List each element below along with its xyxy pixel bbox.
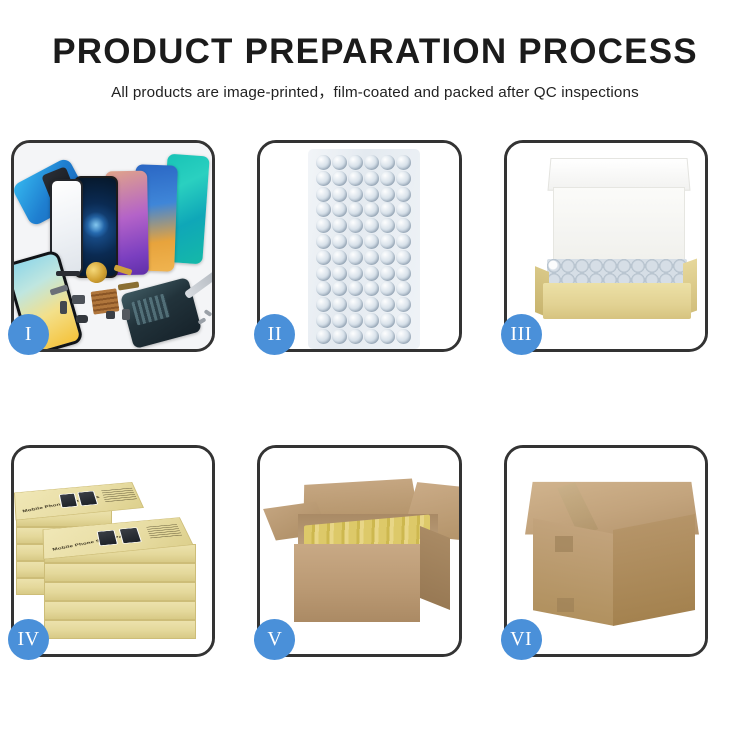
carton-sealed-image	[507, 448, 705, 654]
page-subtitle: All products are image-printed，film-coat…	[0, 80, 750, 102]
flex-cable-part-icon	[56, 271, 80, 276]
process-step-panel-3[interactable]: III	[504, 140, 708, 352]
bubble-icon	[396, 250, 411, 265]
bubble-icon	[332, 266, 347, 281]
stacked-box-edge	[44, 601, 196, 620]
bubble-icon	[348, 297, 363, 312]
bubble-icon	[316, 218, 331, 233]
bubble-icon	[348, 281, 363, 296]
products-and-spare-parts-image	[14, 143, 212, 349]
bubble-icon	[348, 218, 363, 233]
bubble-icon	[380, 266, 395, 281]
bubble-icon	[332, 250, 347, 265]
bubble-icon	[396, 187, 411, 202]
stacked-box-edge	[44, 563, 196, 582]
box-screen-image	[77, 491, 98, 506]
stacked-box-edge	[44, 620, 196, 639]
bubble-icon	[316, 329, 331, 344]
bubble-icon	[364, 234, 379, 249]
small-part-icon	[76, 315, 88, 323]
bubble-icon	[348, 313, 363, 328]
box-screen-image	[97, 530, 118, 546]
mailer-box-front-panel	[543, 283, 691, 319]
bubble-icon	[316, 234, 331, 249]
bubble-icon	[364, 250, 379, 265]
bubble-icon	[332, 218, 347, 233]
process-step-panel-6[interactable]: VI	[504, 445, 708, 657]
bubble-icon	[348, 187, 363, 202]
bubble-icon	[348, 155, 363, 170]
bubble-icon	[348, 329, 363, 344]
process-row-2: Mobile Phone Spare Parts Mobile Phone Sp…	[0, 445, 750, 657]
bubble-icon	[332, 234, 347, 249]
process-step-panel-4[interactable]: Mobile Phone Spare Parts Mobile Phone Sp…	[11, 445, 215, 657]
copper-grid-part-icon	[91, 288, 120, 314]
bubble-icon	[348, 171, 363, 186]
bubble-wrap-packing-image	[260, 143, 458, 349]
bubble-icon	[380, 281, 395, 296]
bubble-icon	[364, 187, 379, 202]
bubble-icon	[396, 313, 411, 328]
inner-box-packing-image	[507, 143, 705, 349]
page-header: PRODUCT PREPARATION PROCESS All products…	[0, 0, 750, 102]
step-badge-6: VI	[501, 619, 542, 660]
boxes-stacked-image: Mobile Phone Spare Parts Mobile Phone Sp…	[14, 448, 212, 654]
box-stack: Mobile Phone Spare Parts Mobile Phone Sp…	[14, 448, 212, 654]
bubble-icon	[348, 234, 363, 249]
bubble-icon	[380, 171, 395, 186]
small-part-icon	[72, 295, 85, 304]
bubble-icon	[364, 281, 379, 296]
carton-front-panel	[294, 544, 420, 622]
bubble-icon	[396, 297, 411, 312]
bubble-icon	[348, 266, 363, 281]
step-badge-4: IV	[8, 619, 49, 660]
screw-icon	[204, 309, 213, 317]
bubble-icon	[348, 250, 363, 265]
bubble-icon	[380, 218, 395, 233]
bubble-icon	[316, 187, 331, 202]
bubble-icon	[364, 155, 379, 170]
bubble-icon	[380, 329, 395, 344]
stacked-box-edge	[44, 582, 196, 601]
bubble-icon	[332, 171, 347, 186]
bubble-icon	[332, 187, 347, 202]
bubble-icon	[380, 155, 395, 170]
sealed-carton-tab	[557, 598, 574, 612]
page-title: PRODUCT PREPARATION PROCESS	[0, 34, 750, 71]
bubble-icon	[380, 313, 395, 328]
bubble-icon	[364, 297, 379, 312]
bubble-icon	[364, 202, 379, 217]
bubble-icon	[316, 313, 331, 328]
bubble-icon	[332, 297, 347, 312]
step-badge-1: I	[8, 314, 49, 355]
bubble-icon	[332, 155, 347, 170]
bubble-icon	[316, 202, 331, 217]
bubble-icon	[396, 329, 411, 344]
bubble-icon	[380, 250, 395, 265]
process-step-panel-5[interactable]: V	[257, 445, 461, 657]
bubble-icon	[364, 329, 379, 344]
bubble-icon	[348, 202, 363, 217]
bubble-icon	[380, 187, 395, 202]
bubble-icon	[380, 234, 395, 249]
small-part-icon	[60, 301, 67, 314]
small-part-icon	[106, 311, 115, 319]
box-spec-lines	[101, 487, 137, 502]
bubble-icon	[332, 329, 347, 344]
process-step-panel-2[interactable]: II	[257, 140, 461, 352]
step-badge-3: III	[501, 314, 542, 355]
bubble-icon	[364, 218, 379, 233]
bubble-icon	[364, 313, 379, 328]
box-label-text: Mobile Phone Spare Parts	[52, 533, 131, 552]
bubble-icon	[332, 281, 347, 296]
bubble-icon	[364, 266, 379, 281]
mailer-box-lid	[547, 158, 690, 191]
bubble-wrap-bubbles	[316, 155, 412, 345]
bubble-icon	[396, 281, 411, 296]
carton-side-panel	[420, 526, 450, 610]
bubble-icon	[316, 250, 331, 265]
small-part-icon	[122, 309, 130, 320]
bubble-icon	[396, 218, 411, 233]
box-spec-lines	[146, 524, 182, 539]
bubble-icon	[396, 234, 411, 249]
bubble-icon	[396, 171, 411, 186]
bubble-icon	[364, 171, 379, 186]
process-row-1: I II III	[0, 140, 750, 352]
bubble-icon	[332, 313, 347, 328]
carton-filling-image	[260, 448, 458, 654]
bubble-icon	[332, 202, 347, 217]
bubble-icon	[316, 171, 331, 186]
bubble-icon	[316, 266, 331, 281]
sealed-carton-tab	[555, 536, 573, 552]
bubble-icon	[380, 202, 395, 217]
small-part-icon	[118, 281, 140, 290]
process-grid: I II III	[0, 140, 750, 750]
bubble-icon	[316, 281, 331, 296]
mailer-box-back-panel	[553, 187, 685, 265]
bubble-icon	[380, 297, 395, 312]
box-screen-image	[119, 527, 142, 544]
box-screen-image	[59, 493, 78, 508]
bubble-icon	[396, 202, 411, 217]
bubble-icon	[396, 155, 411, 170]
process-step-panel-1[interactable]: I	[11, 140, 215, 352]
sealed-carton-right-face	[613, 514, 695, 626]
bubble-icon	[396, 266, 411, 281]
bubble-icon	[316, 297, 331, 312]
bubble-icon	[316, 155, 331, 170]
